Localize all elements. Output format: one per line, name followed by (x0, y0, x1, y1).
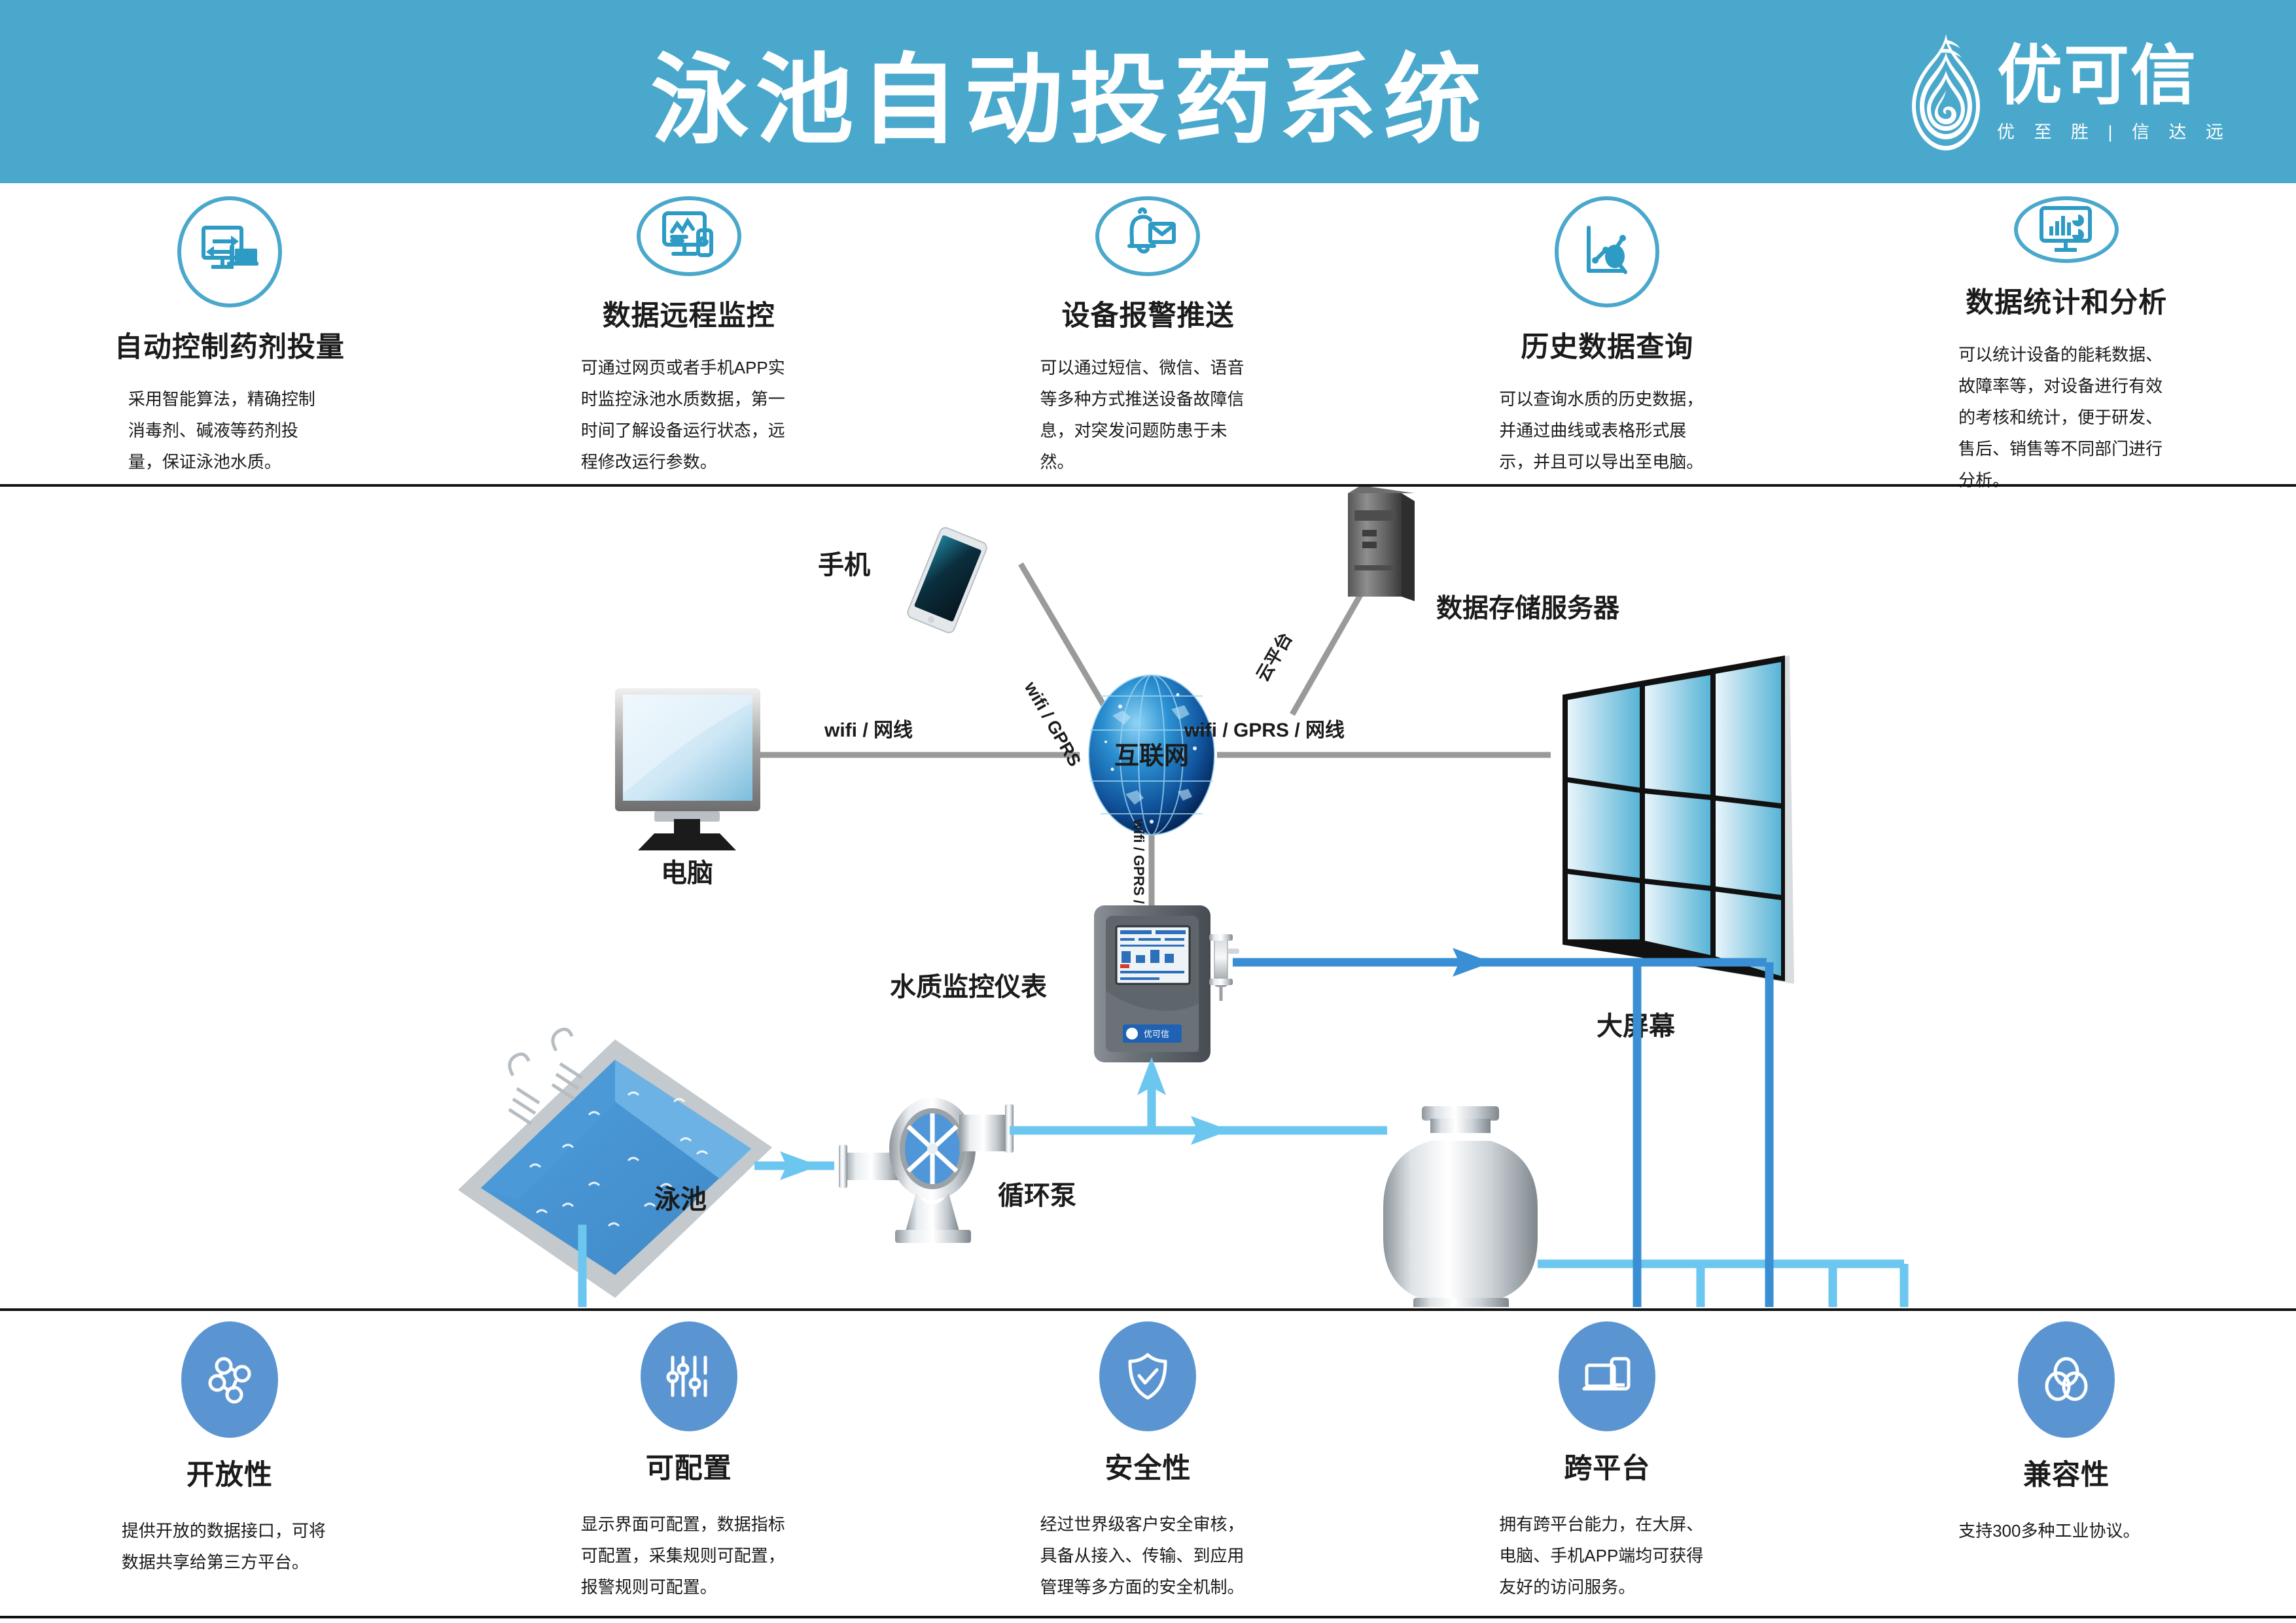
page-header: 泳池自动投药系统 优可信 优 至 胜 | 信 达 远 (0, 0, 2296, 183)
feature-title: 历史数据查询 (1521, 324, 1693, 365)
feature-desc: 可通过网页或者手机APP实时监控泳池水质数据，第一时间了解设备运行状态，远程修改… (581, 352, 797, 478)
bfeature-desc: 显示界面可配置，数据指标可配置，采集规则可配置，报警规则可配置。 (581, 1509, 797, 1603)
big-screen-wall (1563, 655, 1794, 984)
link-label-server-internet: 云平台 (1252, 629, 1296, 685)
feature-desc: 可以查询水质的历史数据，并通过曲线或表格形式展示，并且可以导出至电脑。 (1499, 383, 1715, 478)
shield-check-icon (1099, 1321, 1196, 1431)
label-server: 数据存储服务器 (1436, 594, 1620, 623)
feature-item-statistics: 数据统计和分析 可以统计设备的能耗数据、故障率等，对设备进行有效的考核和统计，便… (1837, 196, 2296, 478)
share-nodes-icon (181, 1321, 278, 1438)
bfeature-title: 兼容性 (2023, 1452, 2110, 1493)
monitor-statistics-icon (2014, 196, 2119, 263)
link-label-internet-bigscreen: wifi / GPRS / 网线 (1184, 720, 1345, 741)
bfeature-item-compatibility: 兼容性 支持300多种工业协议。 (1837, 1321, 2296, 1603)
label-pool: 泳池 (654, 1185, 707, 1214)
computer-monitor (615, 688, 760, 850)
label-internet: 互联网 (1114, 742, 1189, 770)
feature-title: 数据远程监控 (603, 293, 775, 334)
section-divider-bottom (0, 1308, 2296, 1311)
brand-slogan: 优 至 胜 | 信 达 远 (1997, 118, 2231, 143)
feature-list-bottom: 开放性 提供开放的数据接口，可将数据共享给第三方平台。 可配置 显示界面可配置，… (0, 1321, 2296, 1603)
brand-logo: 优可信 优 至 胜 | 信 达 远 (1907, 33, 2231, 154)
internet-globe: 互联网 (1089, 675, 1214, 835)
phone-device (906, 526, 989, 635)
water-quality-meter: 优可信 (1094, 905, 1239, 1062)
bell-envelope-icon (1095, 196, 1200, 276)
monitor-chart-phone-icon (637, 196, 741, 276)
feature-title: 设备报警推送 (1061, 293, 1234, 334)
label-phone: 手机 (818, 551, 870, 580)
swimming-pool (458, 1029, 772, 1298)
brand-name: 优可信 (1997, 43, 2197, 109)
bfeature-title: 可配置 (646, 1446, 732, 1486)
bfeature-title: 安全性 (1104, 1446, 1191, 1486)
bfeature-item-openness: 开放性 提供开放的数据接口，可将数据共享给第三方平台。 (0, 1321, 459, 1603)
bfeature-title: 开放性 (186, 1452, 273, 1493)
bfeature-item-security: 安全性 经过世界级客户安全审核，具备从接入、传输、到应用管理等多方面的安全机制。 (919, 1321, 1378, 1603)
bfeature-title: 跨平台 (1564, 1446, 1650, 1486)
bfeature-item-crossplatform: 跨平台 拥有跨平台能力，在大屏、电脑、手机APP端均可获得友好的访问服务。 (1377, 1321, 1837, 1603)
feature-title: 自动控制药剂投量 (115, 324, 345, 365)
feature-desc: 可以统计设备的能耗数据、故障率等，对设备进行有效的考核和统计，便于研发、售后、销… (1958, 339, 2174, 496)
feature-item-history-query: 历史数据查询 可以查询水质的历史数据，并通过曲线或表格形式展示，并且可以导出至电… (1377, 196, 1837, 478)
feature-title: 数据统计和分析 (1966, 280, 2167, 321)
filter-tank (1383, 1106, 1538, 1307)
bfeature-desc: 提供开放的数据接口，可将数据共享给第三方平台。 (122, 1515, 338, 1578)
feature-desc: 可以通过短信、微信、语音等多种方式推送设备故障信息，对突发问题防患于未然。 (1040, 352, 1256, 478)
label-circpump: 循环泵 (998, 1181, 1076, 1210)
circulation-pump (839, 1098, 1014, 1243)
pipe-network (582, 1068, 1904, 1307)
bfeature-desc: 拥有跨平台能力，在大屏、电脑、手机APP端均可获得友好的访问服务。 (1499, 1509, 1715, 1603)
meter-valve (1209, 934, 1239, 1001)
feature-desc: 采用智能算法，精确控制消毒剂、碱液等药剂投量，保证泳池水质。 (128, 383, 331, 478)
link-label-computer-internet: wifi / 网线 (824, 720, 913, 741)
venn-circles-icon (2018, 1321, 2115, 1438)
feature-item-remote-monitoring: 数据远程监控 可通过网页或者手机APP实时监控泳池水质数据，第一时间了解设备运行… (459, 196, 919, 478)
system-diagram: 手机 数据存储服务器 互联网 wifi / (0, 487, 2296, 1307)
label-meter: 水质监控仪表 (890, 973, 1047, 1002)
label-computer: 电脑 (661, 859, 713, 888)
sliders-icon (641, 1321, 737, 1431)
bfeature-desc: 经过世界级客户安全审核，具备从接入、传输、到应用管理等多方面的安全机制。 (1040, 1509, 1256, 1603)
feature-item-auto-dosing: 自动控制药剂投量 采用智能算法，精确控制消毒剂、碱液等药剂投量，保证泳池水质。 (0, 196, 459, 478)
svg-text:优可信: 优可信 (1144, 1029, 1169, 1039)
water-drop-fingerprint-icon (1907, 33, 1985, 154)
feature-list-top: 自动控制药剂投量 采用智能算法，精确控制消毒剂、碱液等药剂投量，保证泳池水质。 … (0, 196, 2296, 478)
page-title: 泳池自动投药系统 (650, 21, 1488, 163)
bfeature-desc: 支持300多种工业协议。 (1958, 1515, 2174, 1546)
bfeature-item-configurable: 可配置 显示界面可配置，数据指标可配置，采集规则可配置，报警规则可配置。 (459, 1321, 919, 1603)
flow-arrows (568, 1057, 1847, 1307)
page-bottom-divider (0, 1616, 2296, 1618)
history-chart-icon (1555, 196, 1659, 307)
devices-icon (1559, 1321, 1655, 1431)
feature-item-alarm-push: 设备报警推送 可以通过短信、微信、语音等多种方式推送设备故障信息，对突发问题防患… (919, 196, 1378, 478)
monitor-exchange-icon (177, 196, 282, 307)
server-device (1348, 487, 1415, 601)
